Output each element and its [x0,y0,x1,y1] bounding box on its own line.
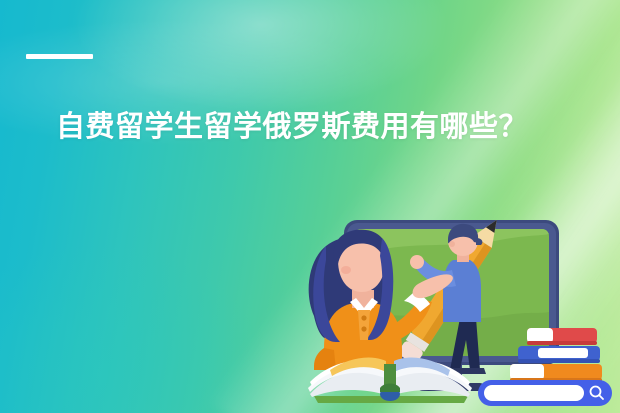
education-illustration [300,198,620,413]
background-glow-bottom-left [0,243,270,413]
accent-rule [26,54,93,59]
page-title: 自费留学生留学俄罗斯费用有哪些？ [56,107,566,147]
search-bar[interactable] [478,380,612,406]
search-input[interactable] [484,385,584,401]
promo-banner: 自费留学生留学俄罗斯费用有哪些？ [0,0,620,413]
